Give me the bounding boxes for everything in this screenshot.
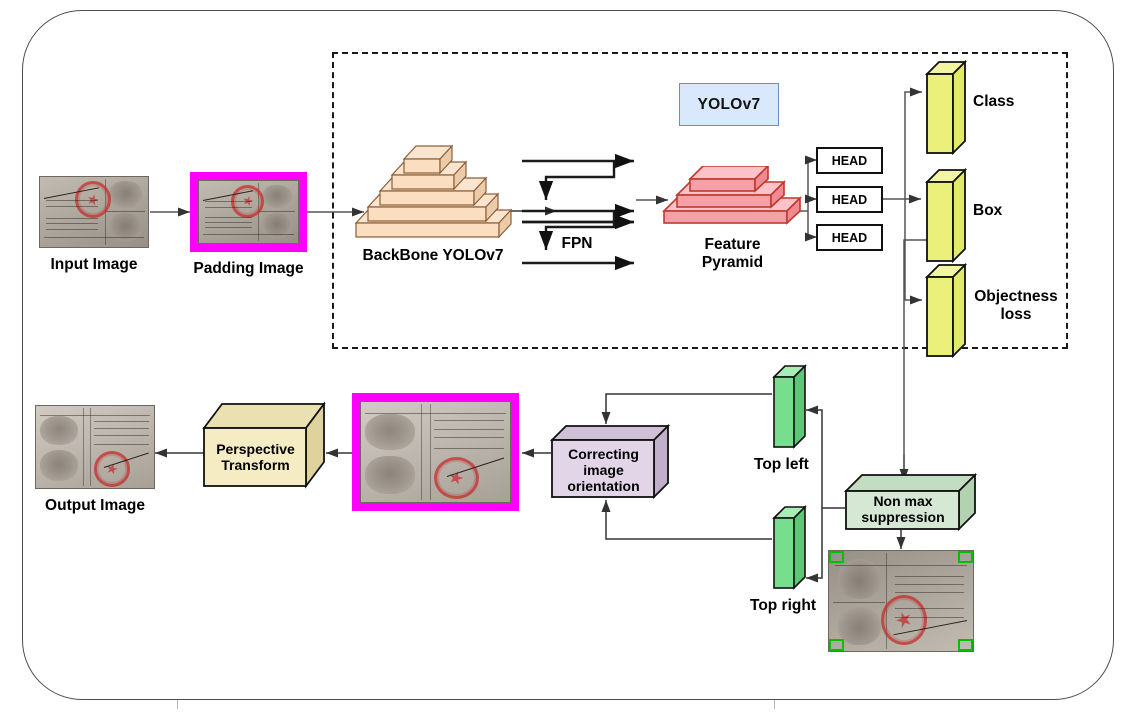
backbone-yolov7-node[interactable]: BackBone YOLOv7: [348, 128, 518, 265]
corrected-image-node[interactable]: [352, 393, 519, 511]
perspective-transform-label: Perspective Transform: [205, 441, 306, 473]
output-image-label: Output Image: [35, 497, 155, 515]
objectness-output-label: Objectness loss: [967, 288, 1065, 324]
head-box-2[interactable]: HEAD: [816, 186, 883, 213]
corner-marker-top-left: [829, 551, 844, 563]
backbone-label: BackBone YOLOv7: [348, 247, 518, 265]
top-left-slab-icon: [772, 364, 808, 449]
class-slab-icon: [925, 60, 969, 155]
class-output-node[interactable]: [925, 60, 969, 160]
padding-image-node[interactable]: Padding Image: [190, 172, 307, 278]
objectness-output-node[interactable]: [925, 263, 969, 363]
nms-label: Non max suppression: [847, 493, 959, 525]
input-image-label: Input Image: [39, 256, 149, 274]
box-slab-icon: [925, 168, 969, 263]
top-right-label: Top right: [750, 597, 786, 615]
top-right-node[interactable]: Top right: [772, 505, 808, 615]
padding-image-label: Padding Image: [190, 260, 307, 278]
corner-marker-bottom-left: [829, 639, 844, 651]
feature-pyramid-icon: [660, 166, 805, 228]
diagram-canvas: YOLOv7 Input Image: [0, 0, 1139, 721]
box-output-node[interactable]: [925, 168, 969, 268]
class-output-label: Class: [973, 93, 1053, 111]
detected-image-node[interactable]: [828, 550, 974, 652]
box-output-label: Box: [973, 202, 1053, 220]
backbone-pyramid-icon: [348, 128, 518, 240]
correcting-orientation-label: Correcting image orientation: [553, 446, 654, 494]
yolov7-badge: YOLOv7: [679, 83, 779, 126]
perspective-transform-node[interactable]: Perspective Transform: [203, 402, 325, 488]
head-box-1[interactable]: HEAD: [816, 147, 883, 174]
fpn-label: FPN: [530, 235, 624, 253]
top-left-label: Top left: [754, 456, 790, 474]
feature-pyramid-node[interactable]: Feature Pyramid: [660, 166, 805, 272]
top-right-slab-icon: [772, 505, 808, 590]
non-max-suppression-node[interactable]: Non max suppression: [845, 473, 976, 530]
head-box-3[interactable]: HEAD: [816, 224, 883, 251]
objectness-slab-icon: [925, 263, 969, 358]
input-image-node[interactable]: Input Image: [39, 176, 149, 274]
corner-marker-bottom-right: [958, 639, 973, 651]
correcting-orientation-node[interactable]: Correcting image orientation: [551, 424, 669, 499]
feature-pyramid-label: Feature Pyramid: [660, 236, 805, 272]
corner-marker-top-right: [958, 551, 973, 563]
output-image-node[interactable]: Output Image: [35, 405, 155, 515]
top-left-node[interactable]: Top left: [772, 364, 808, 474]
